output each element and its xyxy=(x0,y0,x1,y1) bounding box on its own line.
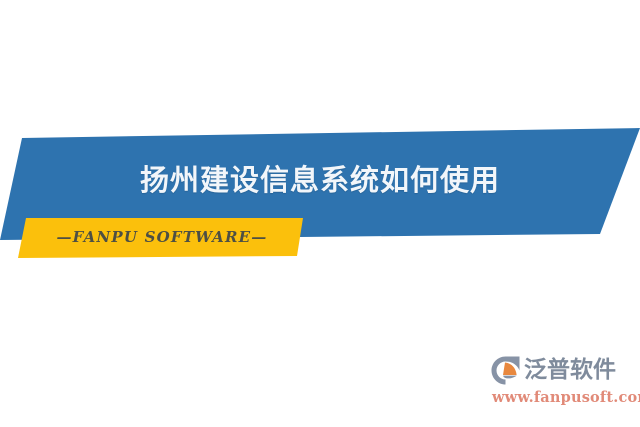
fanpu-swoosh-icon xyxy=(490,355,521,386)
subtitle-text: —FANPU SOFTWARE— xyxy=(32,228,292,246)
brand-logo: 泛普软件 www.fanpusoft.com xyxy=(490,355,632,413)
company-url: www.fanpusoft.com xyxy=(492,389,640,406)
slide-canvas: 扬州建设信息系统如何使用 —FANPU SOFTWARE— 泛普软件 www.f… xyxy=(0,0,640,427)
logo-name-row: 泛普软件 xyxy=(490,355,616,386)
page-title: 扬州建设信息系统如何使用 xyxy=(0,164,640,197)
company-name: 泛普软件 xyxy=(524,359,616,382)
